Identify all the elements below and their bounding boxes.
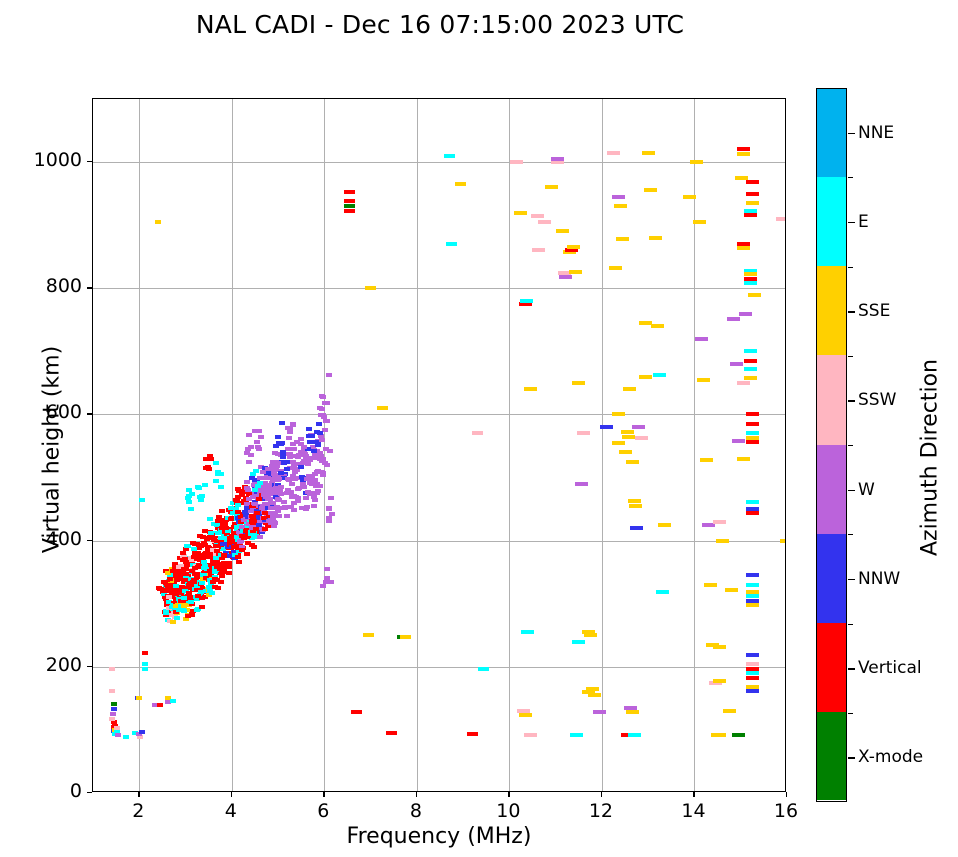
colorbar-boundary-tick — [848, 177, 853, 178]
scatter-point — [294, 440, 300, 444]
scatter-point — [744, 272, 757, 276]
scatter-point — [776, 217, 785, 221]
scatter-point — [584, 633, 597, 637]
scatter-point — [301, 485, 307, 489]
scatter-point — [236, 560, 242, 564]
scatter-point — [262, 511, 268, 515]
scatter-point — [704, 583, 717, 587]
scatter-point — [248, 453, 254, 457]
scatter-point — [693, 220, 706, 224]
scatter-point — [136, 696, 142, 700]
colorbar-segment-ssw[interactable] — [817, 355, 846, 444]
scatter-point — [257, 476, 263, 480]
scatter-point — [556, 229, 569, 233]
scatter-point — [284, 467, 290, 471]
scatter-point — [744, 281, 757, 285]
scatter-point — [256, 429, 262, 433]
scatter-point — [746, 422, 759, 426]
scatter-point — [317, 406, 323, 410]
x-tick — [138, 792, 139, 797]
scatter-point — [478, 667, 489, 671]
scatter-point — [223, 526, 229, 530]
scatter-point — [275, 509, 281, 513]
scatter-point — [746, 676, 759, 680]
scatter-point — [163, 611, 169, 615]
scatter-point — [226, 565, 232, 569]
scatter-point — [644, 188, 657, 192]
scatter-point — [744, 359, 757, 363]
scatter-point — [209, 591, 215, 595]
scatter-point — [257, 535, 263, 539]
y-tick — [87, 287, 92, 288]
scatter-point — [286, 478, 292, 482]
scatter-point — [322, 401, 328, 405]
colorbar-segment-nnw[interactable] — [817, 534, 846, 623]
scatter-point — [622, 435, 635, 439]
scatter-point — [365, 286, 376, 290]
scatter-point — [517, 709, 530, 713]
colorbar-label-e: E — [858, 212, 869, 232]
scatter-point — [206, 585, 212, 589]
gridline-vertical — [509, 99, 510, 791]
colorbar-segment-vertical[interactable] — [817, 623, 846, 712]
colorbar-title: Azimuth Direction — [918, 158, 943, 758]
scatter-point — [377, 406, 388, 410]
scatter-point — [746, 671, 759, 675]
scatter-point — [251, 545, 257, 549]
scatter-point — [199, 605, 205, 609]
scatter-point — [270, 515, 276, 519]
x-tick-label: 10 — [478, 800, 538, 822]
scatter-point — [744, 367, 757, 371]
scatter-point — [612, 412, 625, 416]
scatter-point — [258, 435, 264, 439]
scatter-point — [326, 507, 332, 511]
gridline-vertical — [417, 99, 418, 791]
scatter-point — [272, 521, 278, 525]
scatter-point — [744, 213, 757, 217]
gridline-vertical — [232, 99, 233, 791]
scatter-point — [295, 499, 301, 503]
scatter-point — [286, 436, 292, 440]
scatter-point — [218, 485, 224, 489]
scatter-point — [746, 500, 759, 504]
scatter-point — [577, 431, 590, 435]
x-tick-label: 12 — [571, 800, 631, 822]
scatter-point — [298, 465, 304, 469]
scatter-point — [295, 455, 301, 459]
scatter-point — [111, 702, 117, 706]
colorbar-label-sse: SSE — [858, 301, 890, 321]
x-tick — [323, 792, 324, 797]
scatter-point — [545, 185, 558, 189]
scatter-point — [218, 580, 224, 584]
scatter-point — [600, 425, 613, 429]
scatter-point — [572, 640, 585, 644]
scatter-point — [205, 465, 211, 469]
scatter-point — [570, 733, 583, 737]
scatter-point — [732, 733, 745, 737]
scatter-point — [744, 277, 757, 281]
gridline-horizontal — [93, 667, 785, 668]
scatter-point — [290, 422, 296, 426]
scatter-point — [538, 220, 551, 224]
scatter-point — [207, 454, 213, 458]
scatter-point — [635, 436, 648, 440]
scatter-point — [235, 503, 241, 507]
scatter-point — [746, 653, 759, 657]
scatter-point — [628, 499, 641, 503]
scatter-point — [723, 709, 736, 713]
x-tick-label: 4 — [201, 800, 261, 822]
scatter-point — [697, 378, 710, 382]
scatter-point — [289, 482, 295, 486]
scatter-point — [639, 375, 652, 379]
scatter-point — [142, 667, 148, 671]
scatter-point — [323, 419, 329, 423]
scatter-point — [520, 299, 533, 303]
scatter-point — [737, 381, 750, 385]
scatter-point — [114, 726, 120, 730]
x-tick-label: 2 — [108, 800, 168, 822]
colorbar-tick — [848, 668, 855, 669]
scatter-point — [700, 458, 713, 462]
scatter-point — [616, 237, 629, 241]
scatter-point — [386, 731, 397, 735]
scatter-point — [213, 479, 219, 483]
scatter-point — [202, 564, 208, 568]
scatter-canvas — [93, 99, 785, 791]
scatter-point — [575, 482, 588, 486]
colorbar-tick — [848, 579, 855, 580]
scatter-point — [139, 498, 145, 502]
scatter-point — [110, 712, 116, 716]
scatter-point — [690, 160, 703, 164]
scatter-point — [278, 471, 284, 475]
colorbar-boundary-tick — [848, 356, 853, 357]
y-axis-title: Virtual height (km) — [40, 150, 65, 750]
scatter-point — [623, 387, 636, 391]
scatter-point — [624, 706, 637, 710]
scatter-point — [315, 443, 321, 447]
scatter-point — [746, 689, 759, 693]
scatter-point — [213, 461, 219, 465]
scatter-point — [246, 433, 252, 437]
ionogram-plot — [92, 98, 786, 792]
scatter-point — [727, 317, 740, 321]
scatter-point — [256, 523, 262, 527]
scatter-point — [257, 481, 263, 485]
y-tick — [87, 161, 92, 162]
scatter-point — [746, 431, 759, 435]
gridline-vertical — [324, 99, 325, 791]
scatter-point — [735, 176, 748, 180]
scatter-point — [744, 376, 757, 380]
colorbar-label-w: W — [858, 480, 875, 500]
scatter-point — [306, 427, 312, 431]
scatter-point — [649, 236, 662, 240]
colorbar-label-vertical: Vertical — [858, 658, 922, 678]
scatter-point — [277, 491, 283, 495]
scatter-point — [195, 485, 201, 489]
scatter-point — [444, 154, 455, 158]
x-tick-label: 8 — [386, 800, 446, 822]
scatter-point — [207, 517, 213, 521]
colorbar-segment-w[interactable] — [817, 445, 846, 534]
scatter-point — [291, 447, 297, 451]
scatter-point — [237, 540, 243, 544]
scatter-point — [780, 539, 785, 543]
scatter-point — [186, 500, 192, 504]
scatter-point — [278, 485, 284, 489]
colorbar-boundary-tick — [848, 534, 853, 535]
scatter-point — [316, 422, 322, 426]
colorbar-tick — [848, 311, 855, 312]
scatter-point — [746, 201, 759, 205]
colorbar-boundary-tick — [848, 445, 853, 446]
scatter-point — [614, 204, 627, 208]
scatter-point — [180, 551, 186, 555]
x-tick-label: 16 — [756, 800, 816, 822]
scatter-point — [303, 456, 309, 460]
scatter-point — [311, 449, 317, 453]
scatter-point — [109, 717, 115, 721]
scatter-point — [244, 480, 250, 484]
scatter-point — [629, 504, 642, 508]
scatter-point — [713, 520, 726, 524]
azimuth-colorbar[interactable] — [816, 88, 847, 802]
scatter-point — [189, 613, 195, 617]
scatter-point — [188, 507, 194, 511]
scatter-point — [139, 730, 145, 734]
scatter-point — [215, 586, 221, 590]
scatter-point — [621, 430, 634, 434]
scatter-point — [226, 571, 232, 575]
y-tick — [87, 540, 92, 541]
scatter-point — [739, 312, 752, 316]
page-title: NAL CADI - Dec 16 07:15:00 2023 UTC — [0, 10, 880, 39]
scatter-point — [239, 548, 245, 552]
colorbar-tick — [848, 757, 855, 758]
scatter-point — [532, 248, 545, 252]
colorbar-segment-nne[interactable] — [817, 89, 846, 177]
scatter-point — [281, 500, 287, 504]
scatter-point — [215, 470, 221, 474]
scatter-point — [318, 413, 324, 417]
scatter-point — [683, 195, 696, 199]
scatter-point — [632, 425, 645, 429]
colorbar-boundary-tick — [848, 624, 853, 625]
scatter-point — [189, 492, 195, 496]
scatter-point — [320, 584, 326, 588]
scatter-point — [713, 679, 726, 683]
scatter-point — [725, 588, 738, 592]
scatter-point — [326, 580, 332, 584]
scatter-point — [137, 735, 143, 739]
scatter-point — [609, 266, 622, 270]
scatter-point — [344, 199, 355, 203]
scatter-point — [351, 710, 362, 714]
gridline-horizontal — [93, 414, 785, 415]
scatter-point — [328, 496, 334, 500]
scatter-point — [744, 349, 757, 353]
scatter-point — [746, 511, 759, 515]
gridline-horizontal — [93, 288, 785, 289]
scatter-point — [253, 527, 259, 531]
scatter-point — [746, 603, 759, 607]
scatter-point — [746, 662, 759, 666]
x-tick — [693, 792, 694, 797]
scatter-point — [514, 211, 527, 215]
scatter-point — [208, 531, 214, 535]
scatter-point — [565, 248, 578, 252]
scatter-point — [315, 489, 321, 493]
scatter-point — [737, 147, 750, 151]
scatter-point — [730, 362, 743, 366]
scatter-point — [746, 192, 759, 196]
x-axis-title: Frequency (MHz) — [92, 824, 786, 849]
scatter-point — [291, 508, 297, 512]
scatter-point — [472, 431, 483, 435]
scatter-point — [737, 246, 750, 250]
scatter-point — [276, 514, 282, 518]
scatter-point — [317, 484, 323, 488]
scatter-point — [651, 324, 664, 328]
scatter-point — [626, 710, 639, 714]
scatter-point — [244, 552, 250, 556]
scatter-point — [166, 595, 172, 599]
scatter-point — [306, 434, 312, 438]
scatter-point — [746, 599, 759, 603]
scatter-point — [737, 152, 750, 156]
scatter-point — [653, 373, 666, 377]
x-tick — [231, 792, 232, 797]
scatter-point — [246, 460, 252, 464]
scatter-point — [746, 583, 759, 587]
colorbar-tick — [848, 400, 855, 401]
scatter-point — [170, 620, 176, 624]
scatter-point — [253, 469, 259, 473]
scatter-point — [746, 412, 759, 416]
scatter-point — [607, 151, 620, 155]
scatter-point — [254, 511, 260, 515]
scatter-point — [551, 157, 564, 161]
scatter-point — [521, 630, 534, 634]
scatter-point — [713, 645, 726, 649]
scatter-point — [252, 488, 258, 492]
scatter-point — [324, 567, 330, 571]
scatter-point — [248, 445, 254, 449]
colorbar-tick — [848, 222, 855, 223]
scatter-point — [588, 693, 601, 697]
scatter-point — [455, 182, 466, 186]
colorbar-label-nne: NNE — [858, 123, 894, 143]
gridline-vertical — [694, 99, 695, 791]
scatter-point — [524, 733, 537, 737]
scatter-point — [284, 514, 290, 518]
colorbar-boundary-tick — [848, 713, 853, 714]
scatter-point — [155, 220, 161, 224]
scatter-point — [400, 635, 411, 639]
colorbar-segment-sse[interactable] — [817, 266, 846, 355]
scatter-point — [309, 456, 315, 460]
x-tick — [508, 792, 509, 797]
scatter-point — [265, 467, 271, 471]
gridline-horizontal — [93, 162, 785, 163]
scatter-point — [235, 510, 241, 514]
scatter-point — [695, 337, 708, 341]
scatter-point — [320, 457, 326, 461]
scatter-point — [713, 733, 726, 737]
scatter-point — [303, 496, 309, 500]
scatter-point — [531, 214, 544, 218]
scatter-point — [202, 483, 208, 487]
gridline-vertical — [602, 99, 603, 791]
scatter-point — [317, 431, 323, 435]
scatter-point — [123, 735, 129, 739]
scatter-point — [732, 439, 745, 443]
scatter-point — [311, 504, 317, 508]
scatter-point — [572, 381, 585, 385]
scatter-point — [255, 445, 261, 449]
x-tick — [601, 792, 602, 797]
scatter-point — [254, 440, 260, 444]
scatter-point — [642, 151, 655, 155]
y-tick-label: 0 — [12, 780, 82, 802]
scatter-point — [167, 577, 173, 581]
scatter-point — [329, 512, 335, 516]
scatter-point — [519, 713, 532, 717]
scatter-point — [262, 527, 268, 531]
y-tick — [87, 792, 92, 793]
x-tick-label: 14 — [663, 800, 723, 822]
scatter-point — [619, 450, 632, 454]
scatter-point — [737, 457, 750, 461]
scatter-point — [746, 440, 759, 444]
scatter-point — [320, 395, 326, 399]
scatter-point — [593, 710, 606, 714]
scatter-point — [202, 552, 208, 556]
scatter-point — [278, 442, 284, 446]
scatter-point — [219, 509, 225, 513]
scatter-point — [275, 461, 281, 465]
scatter-point — [142, 651, 148, 655]
colorbar-segment-x-mode[interactable] — [817, 712, 846, 800]
scatter-point — [446, 242, 457, 246]
scatter-point — [111, 707, 117, 711]
scatter-point — [227, 539, 233, 543]
scatter-point — [612, 195, 625, 199]
scatter-point — [628, 733, 641, 737]
scatter-point — [170, 699, 176, 703]
colorbar-tick — [848, 490, 855, 491]
scatter-point — [327, 449, 333, 453]
colorbar-label-nnw: NNW — [858, 569, 900, 589]
scatter-point — [559, 275, 572, 279]
scatter-point — [275, 435, 281, 439]
scatter-point — [746, 436, 759, 440]
scatter-point — [626, 460, 639, 464]
scatter-point — [287, 430, 293, 434]
scatter-point — [317, 451, 323, 455]
scatter-point — [266, 483, 272, 487]
scatter-point — [320, 473, 326, 477]
scatter-point — [510, 160, 523, 164]
scatter-point — [344, 204, 355, 208]
colorbar-segment-e[interactable] — [817, 177, 846, 266]
scatter-point — [289, 454, 295, 458]
scatter-point — [746, 180, 759, 184]
